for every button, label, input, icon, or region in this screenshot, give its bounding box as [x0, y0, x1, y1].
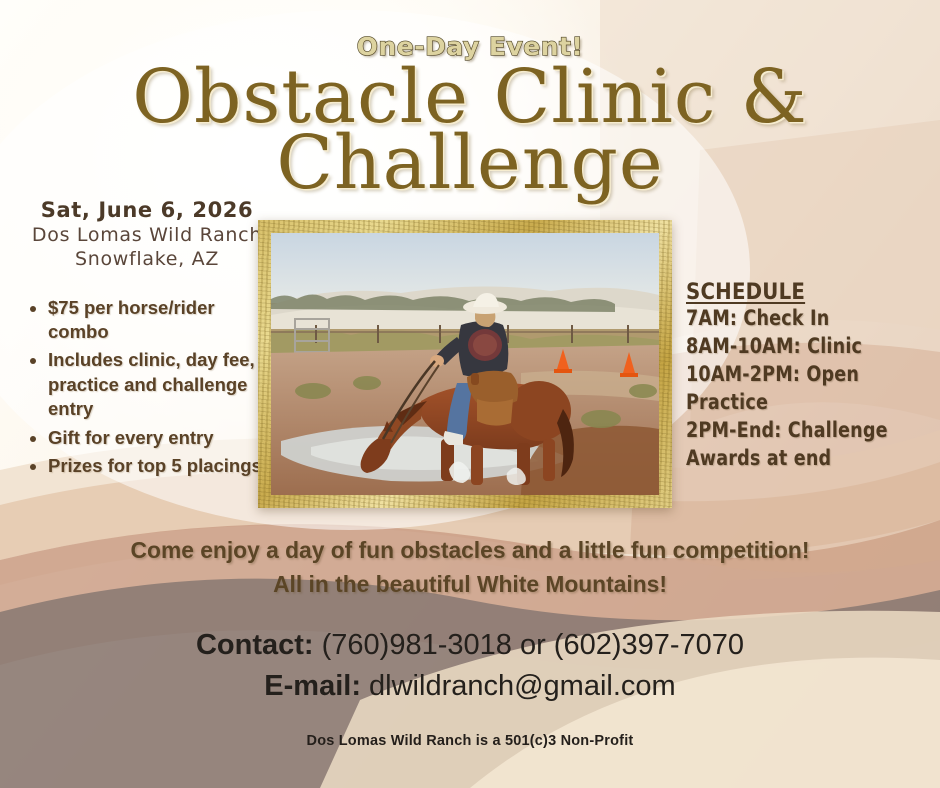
schedule-item: 7AM: Check In [686, 305, 919, 333]
event-info-column: Sat, June 6, 2026 Dos Lomas Wild Ranch S… [22, 198, 272, 482]
list-item: Includes clinic, day fee, practice and c… [48, 348, 272, 421]
list-item: Gift for every entry [48, 426, 272, 450]
event-venue: Dos Lomas Wild Ranch Snowflake, AZ [22, 224, 272, 272]
contact-email-label: E-mail: [264, 670, 361, 702]
page-title: Obstacle Clinic & Challenge [0, 62, 940, 199]
contact-phone-value[interactable]: (760)981-3018 or (602)397-7070 [322, 629, 744, 661]
event-date: Sat, June 6, 2026 [22, 198, 272, 222]
contact-phone-row: Contact: (760)981-3018 or (602)397-7070 [0, 625, 940, 666]
schedule-item: 2PM-End: Challenge [686, 417, 919, 445]
contact-phone-label: Contact: [196, 629, 314, 661]
schedule-heading: SCHEDULE [686, 280, 936, 305]
schedule-item: 10AM-2PM: Open Practice [686, 361, 919, 417]
contact-email-row: E-mail: dlwildranch@gmail.com [0, 666, 940, 707]
tagline-line-1: Come enjoy a day of fun obstacles and a … [131, 537, 810, 563]
event-details-list: $75 per horse/rider combo Includes clini… [48, 296, 272, 479]
tagline-line-2: All in the beautiful White Mountains! [14, 567, 926, 601]
venue-name: Dos Lomas Wild Ranch [32, 224, 262, 246]
list-item: $75 per horse/rider combo [48, 296, 272, 345]
photo-frame [258, 220, 672, 508]
list-item: Prizes for top 5 placings [48, 454, 272, 478]
schedule-item: 8AM-10AM: Clinic [686, 333, 919, 361]
contact-email-value[interactable]: dlwildranch@gmail.com [369, 670, 676, 702]
contact-block: Contact: (760)981-3018 or (602)397-7070 … [0, 625, 940, 707]
flyer-canvas: One-Day Event! Obstacle Clinic & Challen… [0, 0, 940, 788]
schedule-item: Awards at end [686, 445, 919, 473]
tagline: Come enjoy a day of fun obstacles and a … [14, 533, 926, 601]
venue-city: Snowflake, AZ [75, 248, 219, 270]
schedule-block: SCHEDULE 7AM: Check In 8AM-10AM: Clinic … [686, 280, 936, 473]
nonprofit-notice: Dos Lomas Wild Ranch is a 501(c)3 Non-Pr… [0, 733, 940, 749]
event-photo [271, 233, 659, 495]
